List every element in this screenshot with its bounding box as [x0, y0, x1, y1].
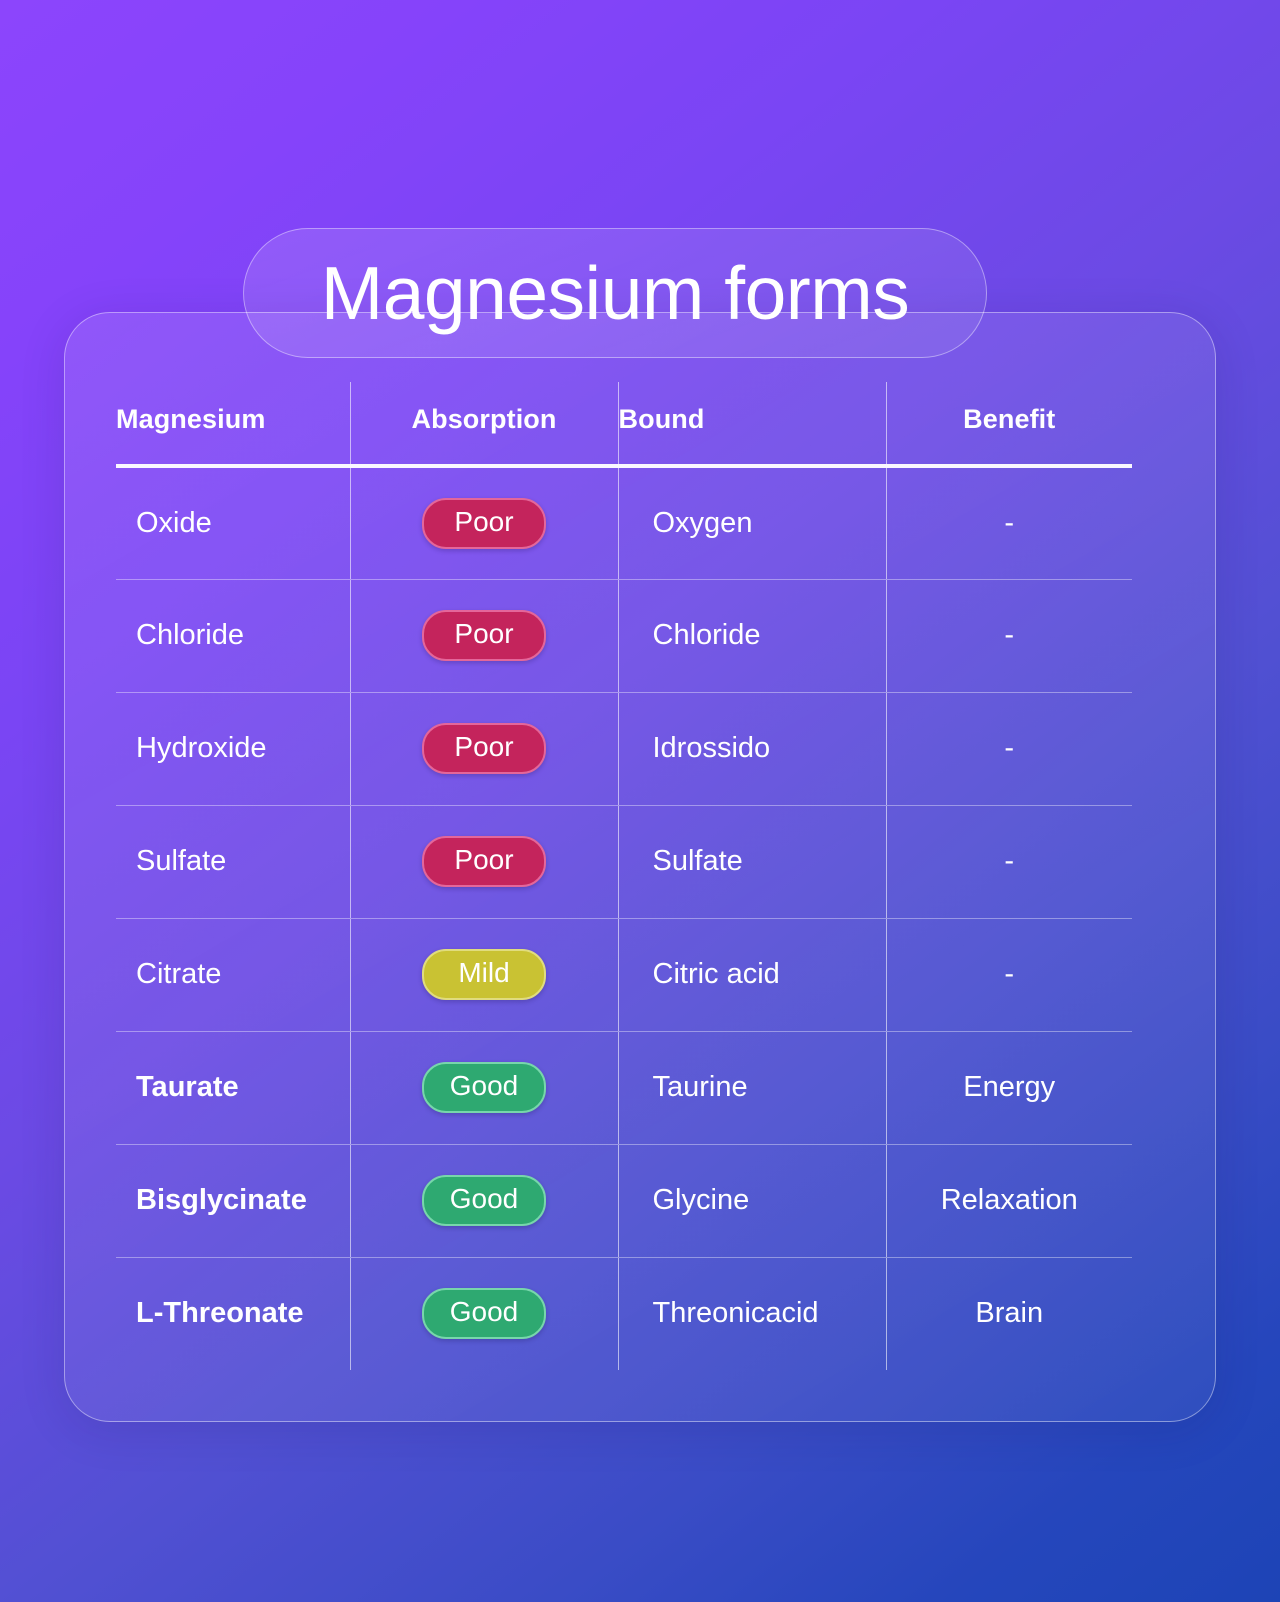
table-row: SulfatePoorSulfate- [116, 805, 1132, 918]
table-row: BisglycinateGoodGlycineRelaxation [116, 1144, 1132, 1257]
cell-absorption: Mild [350, 918, 618, 1031]
cell-benefit: - [886, 805, 1132, 918]
table-row: HydroxidePoorIdrossido- [116, 692, 1132, 805]
cell-benefit: Energy [886, 1031, 1132, 1144]
cell-benefit: - [886, 692, 1132, 805]
cell-bound: Sulfate [618, 805, 886, 918]
column-header-absorption: Absorption [350, 382, 618, 466]
cell-bound: Oxygen [618, 466, 886, 579]
column-header-bound: Bound [618, 382, 886, 466]
absorption-badge-mild: Mild [422, 949, 546, 1000]
cell-magnesium-form: Taurate [116, 1031, 350, 1144]
cell-bound: Glycine [618, 1144, 886, 1257]
cell-benefit: Relaxation [886, 1144, 1132, 1257]
cell-absorption: Poor [350, 805, 618, 918]
cell-magnesium-form: L-Threonate [116, 1257, 350, 1370]
page-title: Magnesium forms [321, 256, 910, 331]
cell-absorption: Poor [350, 692, 618, 805]
cell-absorption: Poor [350, 579, 618, 692]
cell-bound: Idrossido [618, 692, 886, 805]
cell-absorption: Good [350, 1144, 618, 1257]
absorption-badge-poor: Poor [422, 610, 546, 661]
table-row: CitrateMildCitric acid- [116, 918, 1132, 1031]
table-row: OxidePoorOxygen- [116, 466, 1132, 579]
cell-absorption: Poor [350, 466, 618, 579]
absorption-badge-good: Good [422, 1288, 546, 1339]
cell-absorption: Good [350, 1257, 618, 1370]
cell-benefit: - [886, 918, 1132, 1031]
cell-absorption: Good [350, 1031, 618, 1144]
cell-bound: Chloride [618, 579, 886, 692]
table-row: L-ThreonateGoodThreonicacidBrain [116, 1257, 1132, 1370]
absorption-badge-good: Good [422, 1062, 546, 1113]
cell-magnesium-form: Bisglycinate [116, 1144, 350, 1257]
magnesium-forms-table-container: Magnesium Absorption Bound Benefit Oxide… [116, 382, 1132, 1374]
cell-bound: Threonicacid [618, 1257, 886, 1370]
cell-benefit: Brain [886, 1257, 1132, 1370]
absorption-badge-poor: Poor [422, 723, 546, 774]
magnesium-forms-table: Magnesium Absorption Bound Benefit Oxide… [116, 382, 1132, 1370]
title-pill: Magnesium forms [243, 228, 987, 358]
table-header: Magnesium Absorption Bound Benefit [116, 382, 1132, 466]
table-row: TaurateGoodTaurineEnergy [116, 1031, 1132, 1144]
cell-magnesium-form: Hydroxide [116, 692, 350, 805]
absorption-badge-poor: Poor [422, 498, 546, 549]
cell-magnesium-form: Citrate [116, 918, 350, 1031]
table-body: OxidePoorOxygen-ChloridePoorChloride-Hyd… [116, 466, 1132, 1370]
table-row: ChloridePoorChloride- [116, 579, 1132, 692]
cell-benefit: - [886, 579, 1132, 692]
column-header-benefit: Benefit [886, 382, 1132, 466]
cell-bound: Taurine [618, 1031, 886, 1144]
cell-magnesium-form: Oxide [116, 466, 350, 579]
column-header-magnesium: Magnesium [116, 382, 350, 466]
cell-magnesium-form: Chloride [116, 579, 350, 692]
cell-magnesium-form: Sulfate [116, 805, 350, 918]
table-header-row: Magnesium Absorption Bound Benefit [116, 382, 1132, 466]
absorption-badge-good: Good [422, 1175, 546, 1226]
absorption-badge-poor: Poor [422, 836, 546, 887]
cell-benefit: - [886, 466, 1132, 579]
cell-bound: Citric acid [618, 918, 886, 1031]
